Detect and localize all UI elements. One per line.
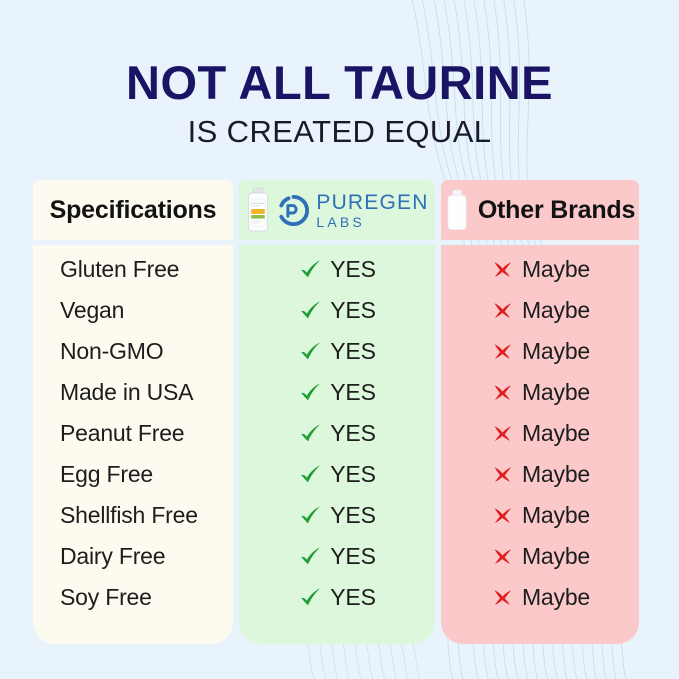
- specification-label: Non-GMO: [60, 338, 163, 365]
- table-row: YES: [239, 372, 435, 413]
- puregen-value: YES: [330, 461, 375, 488]
- table-row: Shellfish Free: [33, 495, 233, 536]
- puregen-value: YES: [330, 420, 375, 447]
- table-row: Soy Free: [33, 577, 233, 618]
- specifications-header-label: Specifications: [50, 196, 217, 225]
- green-check-icon: [298, 298, 323, 323]
- table-row: Maybe: [441, 413, 639, 454]
- green-check-icon: [298, 421, 323, 446]
- table-row: Maybe: [441, 249, 639, 290]
- table-body: Gluten FreeVeganNon-GMOMade in USAPeanut…: [33, 245, 639, 644]
- table-row: YES: [239, 331, 435, 372]
- other-brand-value: Maybe: [522, 461, 590, 488]
- green-check-icon: [298, 544, 323, 569]
- table-row: Maybe: [441, 536, 639, 577]
- table-row: Peanut Free: [33, 413, 233, 454]
- comparison-table: Specifications: [33, 180, 639, 644]
- table-row: Egg Free: [33, 454, 233, 495]
- table-row: Maybe: [441, 331, 639, 372]
- red-x-icon: [490, 298, 515, 323]
- other-brand-value: Maybe: [522, 379, 590, 406]
- headline-line-2: IS CREATED EQUAL: [0, 115, 679, 149]
- headline-line-1: NOT ALL TAURINE: [0, 58, 679, 109]
- red-x-icon: [490, 462, 515, 487]
- specification-label: Soy Free: [60, 584, 152, 611]
- specifications-column: Gluten FreeVeganNon-GMOMade in USAPeanut…: [33, 245, 233, 644]
- green-check-icon: [298, 257, 323, 282]
- puregen-value: YES: [330, 543, 375, 570]
- puregen-value: YES: [330, 502, 375, 529]
- page-title: NOT ALL TAURINE IS CREATED EQUAL: [0, 58, 679, 149]
- table-row: Maybe: [441, 495, 639, 536]
- puregen-brand-name: PUREGEN: [316, 192, 428, 213]
- table-row: Maybe: [441, 372, 639, 413]
- table-header-row: Specifications: [33, 180, 639, 240]
- puregen-values-column: YESYESYESYESYESYESYESYESYES: [239, 245, 435, 644]
- table-row: Maybe: [441, 577, 639, 618]
- table-row: Gluten Free: [33, 249, 233, 290]
- other-brand-value: Maybe: [522, 502, 590, 529]
- specification-label: Vegan: [60, 297, 124, 324]
- table-row: YES: [239, 249, 435, 290]
- puregen-value: YES: [330, 584, 375, 611]
- red-x-icon: [490, 585, 515, 610]
- green-check-icon: [298, 462, 323, 487]
- puregen-value: YES: [330, 338, 375, 365]
- puregen-value: YES: [330, 379, 375, 406]
- column-header-other-brands: Other Brands: [441, 180, 639, 240]
- table-row: YES: [239, 577, 435, 618]
- table-row: Maybe: [441, 290, 639, 331]
- red-x-icon: [490, 257, 515, 282]
- green-check-icon: [298, 339, 323, 364]
- other-brands-values-column: MaybeMaybeMaybeMaybeMaybeMaybeMaybeMaybe…: [441, 245, 639, 644]
- red-x-icon: [490, 339, 515, 364]
- other-brand-value: Maybe: [522, 420, 590, 447]
- table-row: YES: [239, 536, 435, 577]
- other-brands-header-label: Other Brands: [478, 196, 635, 225]
- red-x-icon: [490, 544, 515, 569]
- other-brand-value: Maybe: [522, 338, 590, 365]
- puregen-value: YES: [330, 297, 375, 324]
- puregen-wordmark: PUREGEN LABS: [316, 192, 428, 229]
- table-row: Dairy Free: [33, 536, 233, 577]
- specification-label: Dairy Free: [60, 543, 165, 570]
- other-brand-value: Maybe: [522, 584, 590, 611]
- column-header-specifications: Specifications: [33, 180, 233, 240]
- red-x-icon: [490, 503, 515, 528]
- puregen-brand-suffix: LABS: [316, 215, 428, 229]
- table-row: Made in USA: [33, 372, 233, 413]
- other-brand-value: Maybe: [522, 297, 590, 324]
- red-x-icon: [490, 380, 515, 405]
- specification-label: Made in USA: [60, 379, 193, 406]
- table-row: YES: [239, 413, 435, 454]
- table-row: YES: [239, 495, 435, 536]
- puregen-recycle-p-icon: [277, 194, 310, 227]
- table-row: Non-GMO: [33, 331, 233, 372]
- green-check-icon: [298, 503, 323, 528]
- red-x-icon: [490, 421, 515, 446]
- green-check-icon: [298, 585, 323, 610]
- table-row: Maybe: [441, 454, 639, 495]
- table-row: YES: [239, 290, 435, 331]
- green-check-icon: [298, 380, 323, 405]
- table-row: Vegan: [33, 290, 233, 331]
- puregen-value: YES: [330, 256, 375, 283]
- other-brand-value: Maybe: [522, 256, 590, 283]
- specification-label: Egg Free: [60, 461, 153, 488]
- generic-white-bottle-icon: [445, 189, 469, 231]
- other-brand-value: Maybe: [522, 543, 590, 570]
- taurine-bottle-icon: [245, 187, 271, 233]
- specification-label: Shellfish Free: [60, 502, 198, 529]
- column-header-puregen-labs: PUREGEN LABS: [239, 180, 435, 240]
- specification-label: Gluten Free: [60, 256, 179, 283]
- puregen-logo-lockup: PUREGEN LABS: [245, 187, 428, 233]
- specification-label: Peanut Free: [60, 420, 184, 447]
- table-row: YES: [239, 454, 435, 495]
